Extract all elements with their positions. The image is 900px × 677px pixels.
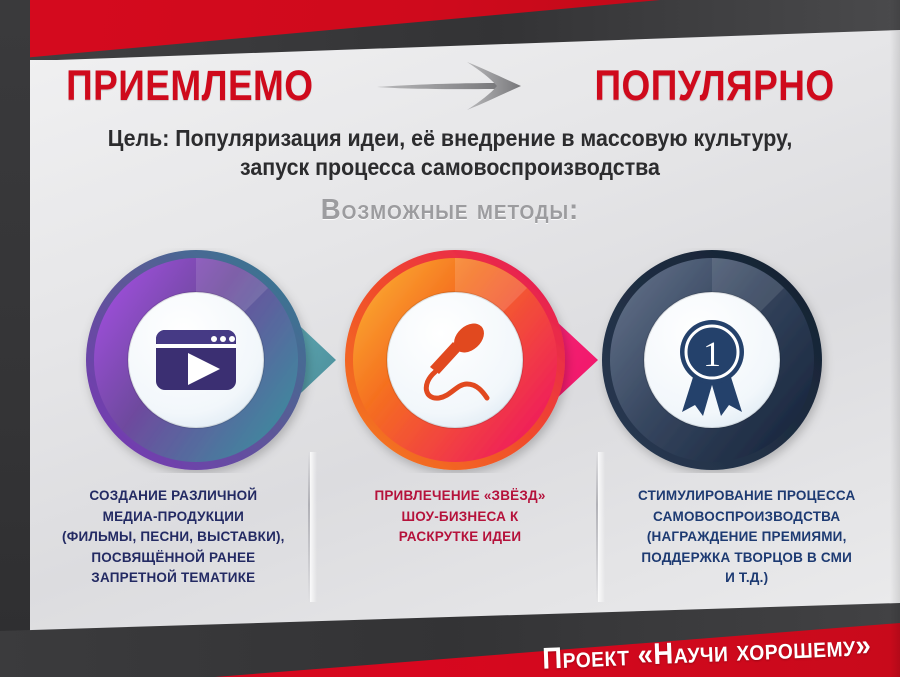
methods-label: Возможные методы: (23, 194, 878, 227)
method-circle-2 (345, 250, 565, 470)
caption-line: СТИМУЛИРОВАНИЕ ПРОЦЕССА (613, 486, 880, 507)
goal-line-1: Цель: Популяризация идеи, её внедрение в… (78, 124, 822, 153)
caption-line: САМОВОСПРОИЗВОДСТВА (613, 507, 880, 528)
caption-line: ЗАПРЕТНОЙ ТЕМАТИКЕ (40, 568, 307, 589)
caption-line: МЕДИА-ПРОДУКЦИИ (40, 507, 307, 528)
caption-line: (НАГРАЖДЕНИЕ ПРЕМИЯМИ, (613, 527, 880, 548)
goal-line-2: запуск процесса самовоспроизводства (78, 153, 822, 182)
infographic-poster: ПРИЕМЛЕМО ПОПУЛЯРНО Цель: Популяризация … (0, 0, 900, 677)
caption-line: (ФИЛЬМЫ, ПЕСНИ, ВЫСТАВКИ), (40, 527, 307, 548)
caption-panels: СОЗДАНИЕ РАЗЛИЧНОЙ МЕДИА-ПРОДУКЦИИ (ФИЛЬ… (30, 470, 890, 610)
caption-line: ПОСВЯЩЁННОЙ РАНЕЕ (40, 548, 307, 569)
goal-text: Цель: Популяризация идеи, её внедрение в… (78, 124, 822, 183)
methods-circles: 1 (0, 248, 900, 473)
caption-line: И Т.Д.) (613, 568, 880, 589)
headline-left: ПРИЕМЛЕМО (66, 65, 313, 108)
caption-media-production: СОЗДАНИЕ РАЗЛИЧНОЙ МЕДИА-ПРОДУКЦИИ (ФИЛЬ… (30, 470, 317, 610)
caption-line: СОЗДАНИЕ РАЗЛИЧНОЙ (40, 486, 307, 507)
caption-line: ПРИВЛЕЧЕНИЕ «ЗВЁЗД» (327, 486, 594, 507)
caption-line: ПОДДЕРЖКА ТВОРЦОВ В СМИ (613, 548, 880, 569)
right-arrow-icon (369, 56, 539, 116)
headline-row: ПРИЕМЛЕМО ПОПУЛЯРНО (0, 55, 900, 117)
medal-number: 1 (703, 334, 721, 374)
caption-award-stimulation: СТИМУЛИРОВАНИЕ ПРОЦЕССА САМОВОСПРОИЗВОДС… (603, 470, 890, 610)
caption-celebrity-promotion: ПРИВЛЕЧЕНИЕ «ЗВЁЗД» ШОУ-БИЗНЕСА К РАСКРУ… (317, 470, 604, 610)
headline-right: ПОПУЛЯРНО (595, 65, 835, 108)
caption-line: ШОУ-БИЗНЕСА К (327, 507, 594, 528)
media-player-window-icon (156, 330, 236, 390)
caption-line: РАСКРУТКЕ ИДЕИ (327, 527, 594, 548)
